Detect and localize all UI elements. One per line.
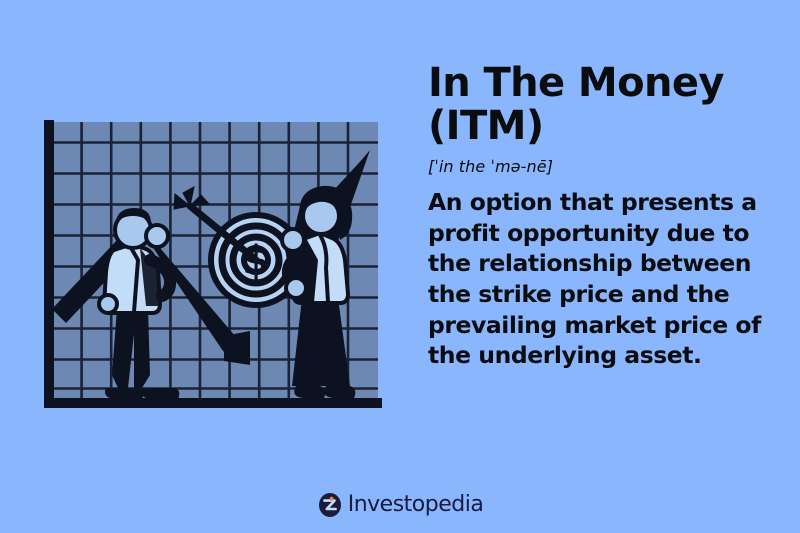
pronunciation-text: [ˈin the ˈmə-nē]: [428, 157, 780, 176]
title-line-1: In The Money: [428, 60, 724, 106]
brand-logo: Investopedia: [0, 492, 800, 518]
page-title: In The Money(ITM): [428, 62, 780, 148]
investopedia-definition-card: $: [0, 0, 800, 533]
title-line-2: (ITM): [428, 103, 544, 149]
illustration-container: $: [38, 120, 390, 416]
chart-x-axis: [44, 398, 382, 408]
chart-y-axis: [44, 120, 54, 408]
definition-text: An option that presents a profit opportu…: [428, 187, 780, 370]
definition-text-column: In The Money(ITM) [ˈin the ˈmə-nē] An op…: [428, 62, 780, 371]
investopedia-logo-icon: [317, 492, 343, 518]
chart-illustration-svg: $: [38, 120, 390, 416]
brand-name: Investopedia: [348, 494, 484, 516]
